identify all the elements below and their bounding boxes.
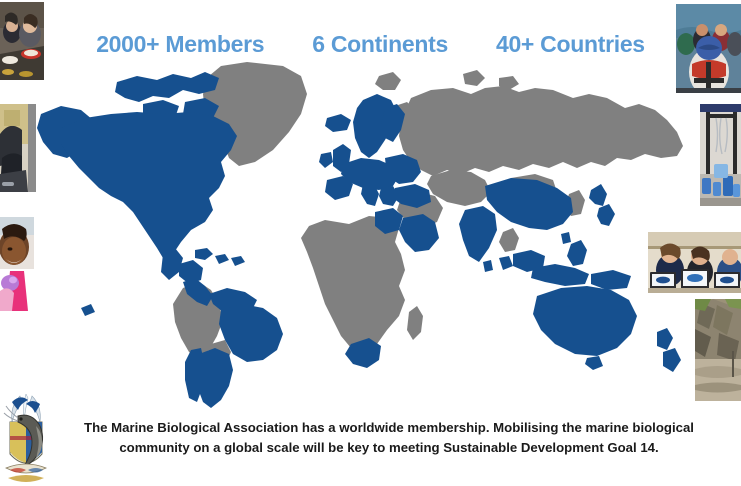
caption-text: The Marine Biological Association has a …	[44, 418, 734, 459]
child-outreach-photo	[0, 217, 34, 311]
coastal-cliffs-photo	[695, 299, 741, 401]
boat-fieldwork-photo	[676, 4, 741, 93]
caption-line-1: The Marine Biological Association has a …	[44, 418, 734, 438]
world-map	[33, 58, 709, 408]
stat-countries: 40+ Countries	[496, 31, 645, 58]
caption-line-2: community on a global scale will be key …	[44, 438, 734, 458]
stat-members: 2000+ Members	[96, 31, 264, 58]
stat-continents: 6 Continents	[312, 31, 448, 58]
workshop-laptops-photo	[648, 232, 741, 293]
field-equipment-photo	[0, 104, 36, 192]
mba-crest-logo	[0, 392, 52, 486]
laboratory-rig-photo	[700, 104, 741, 206]
rockpooling-group-photo	[0, 2, 44, 80]
